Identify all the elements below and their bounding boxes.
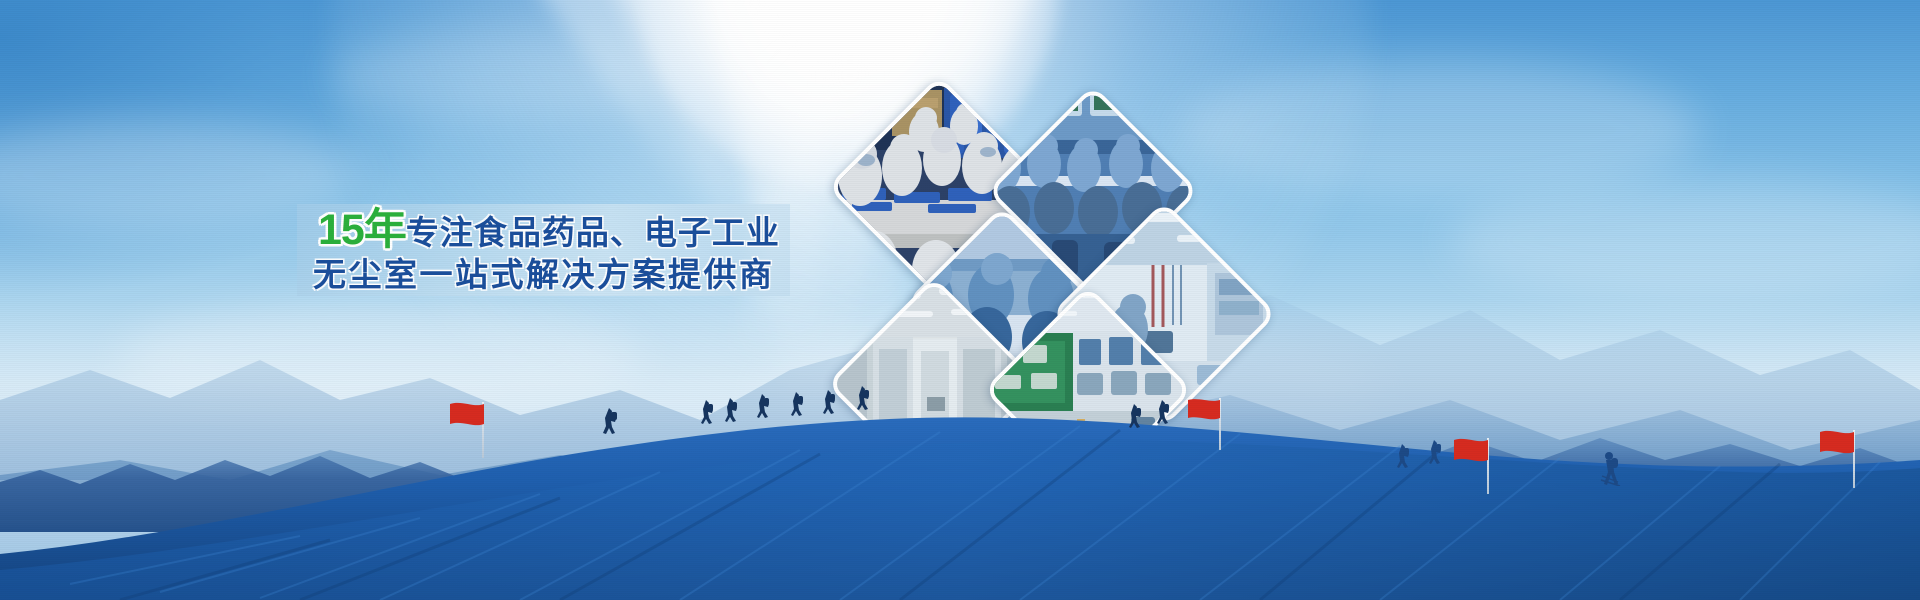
summit-flag-right-mid [1454,438,1488,464]
hiker-silhouette [1396,444,1412,468]
hero-banner: 15年专注食品药品、电子工业 无尘室一站式解决方案提供商 [0,0,1920,600]
summit-flag-left [450,402,484,428]
foreground-blue-ridge [0,340,1920,600]
hiker-silhouette [856,386,872,410]
hiker-silhouette [1428,440,1444,464]
hiker-silhouette [700,400,716,424]
headline-line-1-rest: 专注食品药品、电子工业 [406,216,780,249]
headline-line-2: 无尘室一站式解决方案提供商 [297,258,790,291]
hiker-silhouette [602,408,620,434]
hiker-silhouette [822,390,838,414]
summit-flag-far-right [1820,430,1854,456]
summit-flag-center [1188,398,1220,422]
hiker-silhouette [1128,404,1144,428]
cyclist-silhouette [1598,452,1624,486]
years-badge: 15年 [318,209,406,252]
hiker-silhouette [756,394,772,418]
headline-line-1: 15年专注食品药品、电子工业 [297,209,790,252]
headline-panel: 15年专注食品药品、电子工业 无尘室一站式解决方案提供商 [297,204,790,296]
hiker-silhouette [724,398,740,422]
hiker-silhouette [790,392,806,416]
hiker-silhouette [1156,400,1172,424]
headline-line-2-text: 无尘室一站式解决方案提供商 [313,258,775,291]
